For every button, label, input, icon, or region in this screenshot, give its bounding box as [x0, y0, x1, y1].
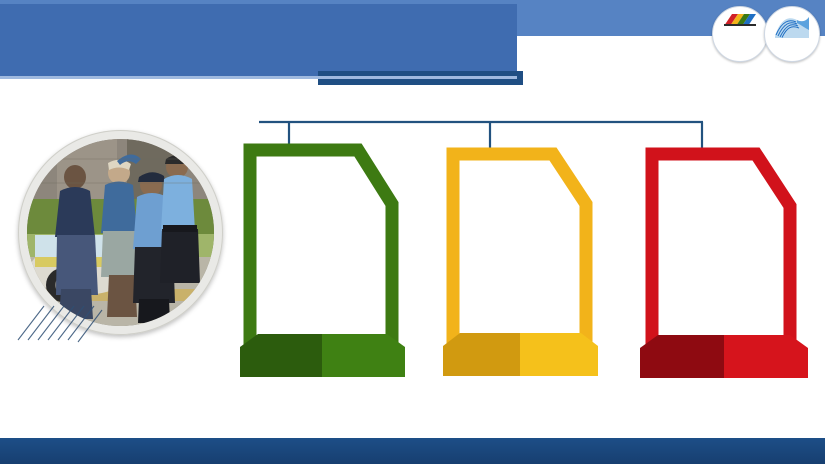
slide: [0, 0, 825, 464]
card-value: [248, 244, 397, 286]
footer-bar: [0, 438, 825, 464]
stat-card-menos-seguridad[interactable]: [640, 142, 808, 382]
stat-card-mas-seguridad[interactable]: [240, 138, 405, 383]
stat-card-se-mantiene[interactable]: [443, 142, 598, 380]
hatch-decoration: [14, 290, 104, 344]
card-value: [451, 250, 591, 292]
card-value: [648, 252, 799, 294]
